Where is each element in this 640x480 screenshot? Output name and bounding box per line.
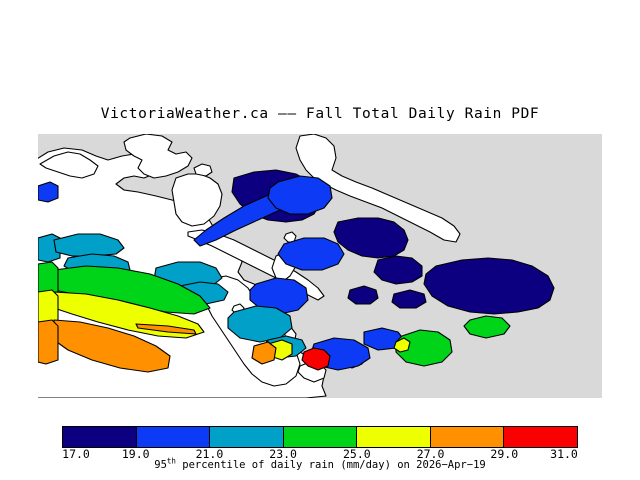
colorbar-segment-4[interactable] xyxy=(284,427,358,447)
page-title: VictoriaWeather.ca —— Fall Total Daily R… xyxy=(0,106,640,122)
region-orange-islet[interactable] xyxy=(252,342,276,364)
caption-superscript: th xyxy=(167,457,176,466)
colorbar-segment-3[interactable] xyxy=(210,427,284,447)
region-green-edge-strip[interactable] xyxy=(38,262,58,294)
colorbar-segment-5[interactable] xyxy=(357,427,431,447)
region-orange-edge-strip[interactable] xyxy=(38,320,58,364)
map-panel[interactable] xyxy=(38,134,602,398)
map-canvas[interactable] xyxy=(38,134,602,398)
region-blue-upper-left[interactable] xyxy=(268,176,332,214)
colorbar[interactable] xyxy=(62,426,578,448)
region-yellow-edge-strip[interactable] xyxy=(38,290,58,324)
region-blue-edge-strip[interactable] xyxy=(38,182,58,202)
region-navy-mid-a[interactable] xyxy=(374,256,422,284)
caption-rest: percentile of daily rain (mm/day) on 202… xyxy=(176,459,486,471)
colorbar-segments[interactable] xyxy=(62,426,578,448)
caption-prefix: 95 xyxy=(154,459,167,471)
colorbar-caption: 95th percentile of daily rain (mm/day) o… xyxy=(0,459,640,471)
colorbar-segment-2[interactable] xyxy=(137,427,211,447)
region-navy-small-c[interactable] xyxy=(392,290,426,308)
colorbar-segment-7[interactable] xyxy=(504,427,577,447)
colorbar-segment-1[interactable] xyxy=(63,427,137,447)
region-blue-mid-island[interactable] xyxy=(278,238,344,270)
region-green-right-edge[interactable] xyxy=(464,316,510,338)
colorbar-segment-6[interactable] xyxy=(431,427,505,447)
